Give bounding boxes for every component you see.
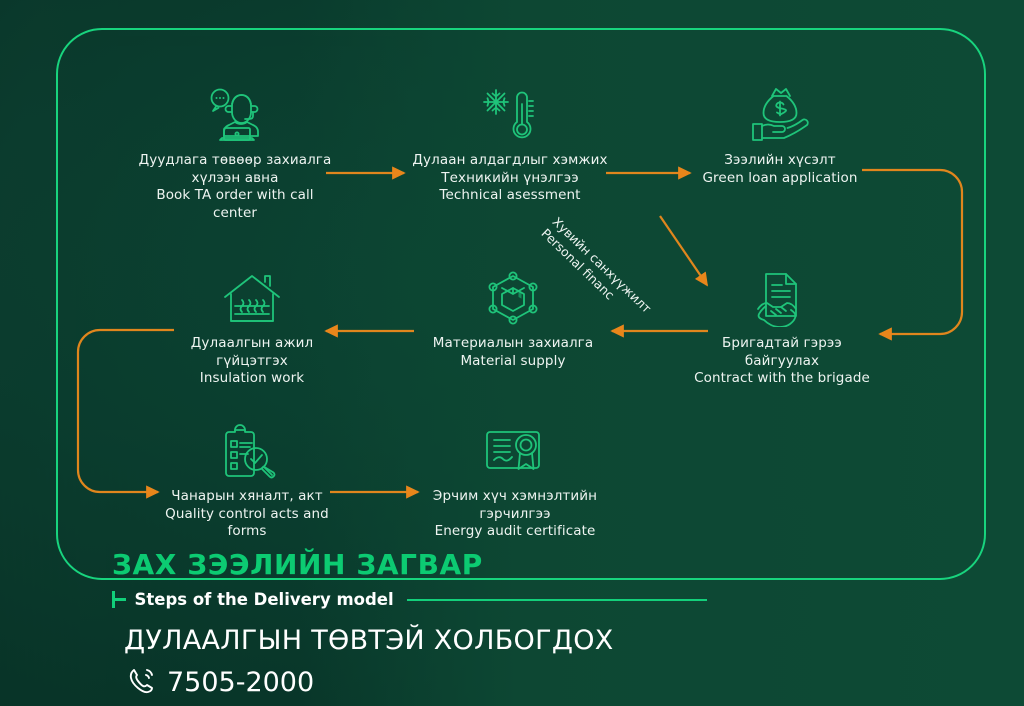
warm-house-icon [178,265,326,327]
package-network-icon [415,265,611,327]
node-call-center[interactable]: Дуудлага төвөөр захиалга хүлээн авна Boo… [130,82,340,222]
node-label-mn: Чанарын хяналт, акт [158,488,336,506]
phone-ring-icon [128,666,156,699]
node-material-supply[interactable]: Материалын захиалга Material supply [415,265,611,370]
footer-contact-mn: ДУЛААЛГЫН ТӨВТЭЙ ХОЛБОГДОХ [112,625,872,656]
node-label-en: Material supply [415,353,611,371]
node-label-en: Quality control acts and forms [158,506,336,541]
certificate-seal-icon [420,418,610,480]
subtitle-rule [407,599,707,601]
footer-phone-row[interactable]: 7505-2000 [112,666,872,699]
node-label-mn: Дулаан алдагдлыг хэмжих Техникийн үнэлгэ… [410,152,610,187]
node-label-mn: Зээлийн хүсэлт [680,152,880,170]
clipboard-check-magnifier-icon [158,418,336,480]
footer-subtitle-row: Steps of the Delivery model [112,590,872,609]
node-green-loan[interactable]: Зээлийн хүсэлт Green loan application [680,82,880,187]
node-quality-control[interactable]: Чанарын хяналт, акт Quality control acts… [158,418,336,541]
node-label-mn: Материалын захиалга [415,335,611,353]
subtitle-tickbar-icon [114,598,126,601]
infographic-canvas: Хувийн санхүүжилт Personal financ [0,0,1024,706]
money-bag-hand-icon [680,82,880,144]
headset-operator-icon [130,82,340,144]
footer-subtitle-en: Steps of the Delivery model [135,590,394,609]
node-label-en: Book TA order with call center [130,187,340,222]
node-insulation-work[interactable]: Дулаалгын ажил гүйцэтгэх Insulation work [178,265,326,388]
node-label-en: Insulation work [178,370,326,388]
footer-block: ЗАХ ЗЭЭЛИЙН ЗАГВАР Steps of the Delivery… [112,548,872,699]
footer-title-mn: ЗАХ ЗЭЭЛИЙН ЗАГВАР [112,548,872,581]
node-label-mn: Бригадтай гэрээ байгуулах [680,335,884,370]
node-contract-brigade[interactable]: Бригадтай гэрээ байгуулах Contract with … [680,265,884,388]
node-label-en: Technical asessment [410,187,610,205]
contract-handshake-icon [680,265,884,327]
node-technical-assessment[interactable]: Дулаан алдагдлыг хэмжих Техникийн үнэлгэ… [410,82,610,205]
node-energy-certificate[interactable]: Эрчим хүч хэмнэлтийн гэрчилгээ Energy au… [420,418,610,541]
node-label-en: Energy audit certificate [420,523,610,541]
node-label-en: Contract with the brigade [680,370,884,388]
thermometer-snowflake-icon [410,82,610,144]
node-label-mn: Дуудлага төвөөр захиалга хүлээн авна [130,152,340,187]
node-label-en: Green loan application [680,170,880,188]
node-label-mn: Эрчим хүч хэмнэлтийн гэрчилгээ [420,488,610,523]
footer-phone-number: 7505-2000 [167,667,314,698]
node-label-mn: Дулаалгын ажил гүйцэтгэх [178,335,326,370]
